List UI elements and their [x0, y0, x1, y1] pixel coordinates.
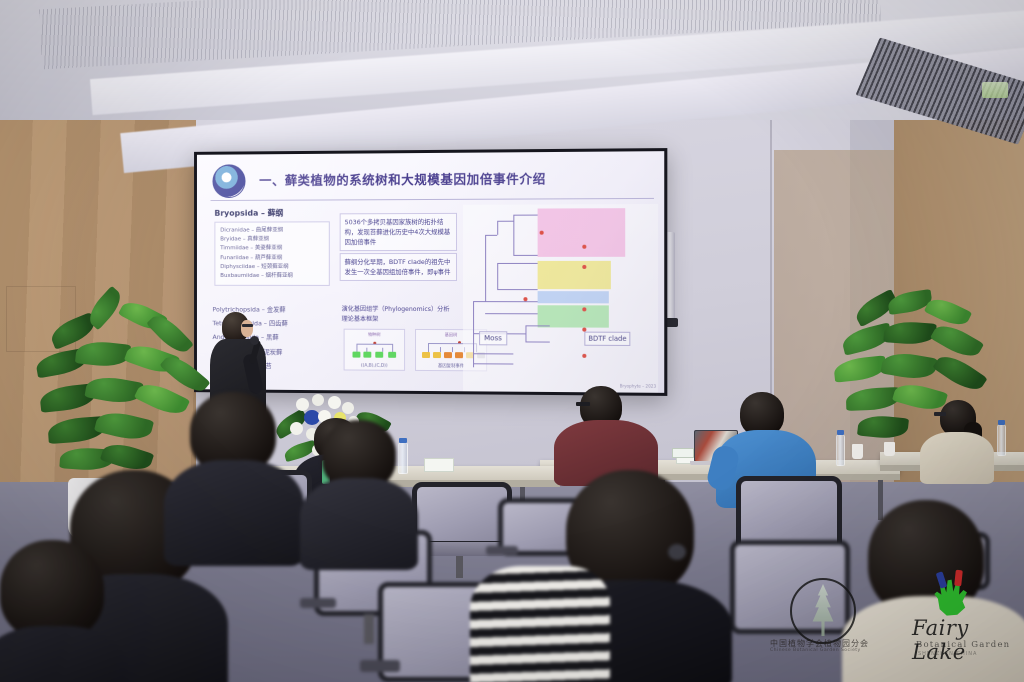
plant-leaf [857, 413, 909, 440]
attendee-torso [470, 566, 610, 682]
name-card [672, 448, 694, 458]
water-bottle [836, 434, 845, 466]
chair-post [364, 614, 374, 644]
watermark-fairy-subtitle: Botanical Garden [916, 640, 1010, 650]
tree-branch [485, 313, 537, 314]
attendee-second-row-left [176, 392, 306, 562]
plant-leaf [94, 408, 154, 445]
list-item: Dicranidae – 曲尾藓亚纲 [220, 226, 324, 235]
tree-branch [513, 215, 514, 255]
tree-branch [525, 325, 549, 326]
list-item: Bryidae – 真藓亚纲 [220, 235, 324, 244]
tree-branch [513, 215, 537, 216]
attendee-second-row-center [300, 420, 420, 560]
microphone-head [250, 336, 259, 345]
presentation-photo: 一、藓类植物的系统树和大规模基因加倍事件介绍 Bryopsida – 藓纲 Di… [0, 0, 1024, 682]
tree-branch [497, 221, 513, 222]
wgd-star-icon [582, 307, 586, 311]
list-item: Buxbaumiidae – 烟杆藓亚纲 [220, 272, 324, 281]
list-item: Timmiidae – 美姿藓亚纲 [220, 245, 324, 254]
attendee-torso [0, 626, 128, 682]
clade-block-green [538, 305, 609, 327]
tree-leaf [422, 352, 430, 358]
flower-white [342, 402, 354, 414]
species-tree-caption: ((A,B),(C,D)) [345, 363, 404, 368]
chair-armrest [486, 546, 518, 555]
wgd-star-icon [582, 245, 586, 249]
tree-leaf [444, 352, 452, 358]
clade-block-blue [538, 291, 609, 303]
tree-branch [485, 235, 497, 236]
attendee-far-left [0, 540, 110, 682]
plant-leaf [932, 349, 987, 396]
wgd-star-icon [582, 354, 586, 358]
tree-branch [392, 344, 393, 352]
list-item: Funariidae – 葫芦藓亚纲 [220, 254, 324, 263]
tree-branch [356, 344, 392, 345]
chair-post [456, 556, 463, 578]
booklet [424, 458, 454, 472]
earphone-icon [668, 544, 686, 560]
wgd-star-icon [540, 231, 544, 235]
attendee-torso [164, 460, 304, 566]
tree-leaf [433, 352, 441, 358]
plant-leaf [880, 349, 937, 382]
callout-box-2: 藓纲分化早期，BDTF clade的祖先中发生一次全基因组加倍事件，即ψ事件 [340, 253, 457, 281]
attendee-cream-jacket [920, 400, 1004, 482]
plant-leaf [84, 373, 143, 406]
watermark-fairy-subtitle2: SHENZHEN CHINA [918, 651, 977, 657]
flower-white [312, 394, 324, 406]
slide-title: 一、藓类植物的系统树和大规模基因加倍事件介绍 [259, 167, 660, 189]
tree-branch [473, 353, 513, 354]
exit-sign [982, 82, 1008, 98]
attendee-torso [300, 478, 418, 570]
presenter-face [241, 320, 253, 337]
section-heading: Bryopsida – 藓纲 [214, 208, 283, 219]
attendee-torso [920, 432, 994, 484]
paper-cup [884, 442, 895, 456]
phylogenomics-caption: 演化基因组学（Phylogenomics）分析理论基本框架 [342, 305, 453, 324]
tree-branch [497, 289, 537, 290]
tree-branch [513, 255, 537, 256]
clade-block-pink [538, 208, 626, 257]
tree-leaf [375, 352, 383, 358]
moss-label: Moss [479, 331, 507, 345]
tree-branch [497, 263, 537, 264]
paper-cup [852, 444, 863, 459]
wgd-star-icon [582, 265, 586, 269]
tree-branch [356, 344, 357, 352]
chair-armrest [300, 598, 336, 608]
tree-branch [473, 301, 485, 302]
species-tree-title: 物种树 [345, 332, 404, 338]
institution-seal-icon [212, 164, 245, 198]
plant-leaf [833, 355, 887, 382]
tree-branch [497, 263, 498, 289]
flower-white [328, 396, 341, 409]
tree-branch [525, 325, 526, 341]
tree-leaf [388, 352, 396, 358]
clade-block-yellow [538, 261, 611, 289]
glasses-icon [934, 412, 946, 416]
glasses-icon [242, 324, 253, 327]
bottle-cap [837, 430, 844, 435]
species-tree-diagram: 物种树 ((A,B),(C,D)) [344, 329, 405, 371]
slide-header: 一、藓类植物的系统树和大规模基因加倍事件介绍 [197, 159, 664, 200]
list-item: Diphysciidae – 短颈藓亚纲 [220, 263, 324, 272]
tree-leaf [353, 352, 361, 358]
attendee-head [0, 540, 104, 640]
tree-leaf [455, 352, 463, 358]
wgd-star-icon [523, 297, 527, 301]
callout-box-1: 5036个多拷贝基因家族树的拓扑结构，发现苔藓进化历史中4次大规模基因加倍事件 [340, 213, 457, 251]
chair-armrest [360, 660, 400, 672]
subclass-list: Dicranidae – 曲尾藓亚纲 Bryidae – 真藓亚纲 Timmii… [214, 221, 329, 286]
tree-branch [428, 343, 429, 352]
attendee-striped-sweater [470, 556, 610, 682]
tree-branch [452, 347, 453, 352]
glasses-icon [576, 402, 590, 406]
tree-branch [485, 235, 486, 301]
tree-branch [485, 301, 537, 302]
tree-branch [473, 363, 513, 364]
plant-leaf [883, 320, 936, 346]
tree-branch [525, 341, 549, 342]
tree-leaf [363, 352, 371, 358]
plant-leaf [930, 319, 984, 363]
screen-roller-pole [666, 232, 675, 322]
bdtf-clade-label: BDTF clade [584, 332, 630, 346]
phylogenetic-tree: BDTF clade [463, 204, 658, 393]
tree-branch [497, 221, 498, 235]
